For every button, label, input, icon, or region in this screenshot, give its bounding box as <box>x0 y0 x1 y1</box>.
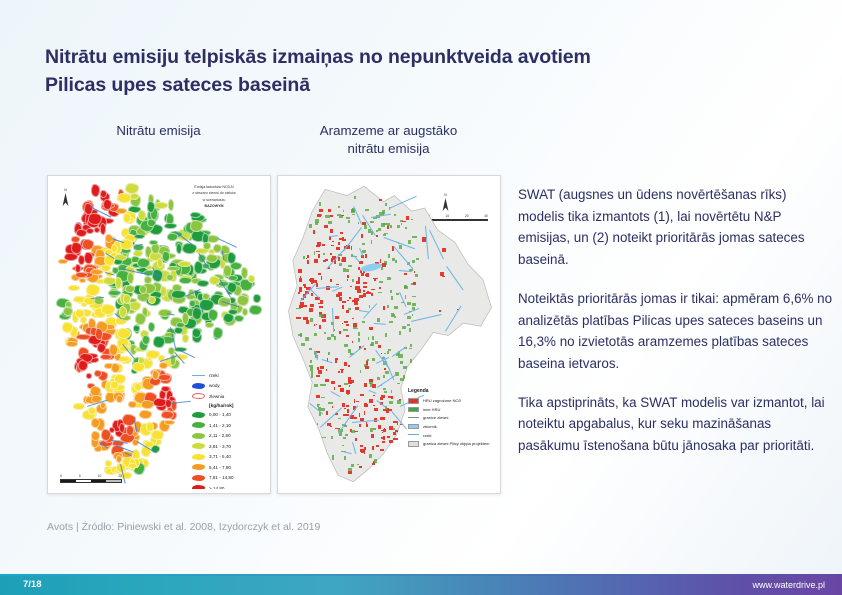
river-segment <box>359 248 363 256</box>
slide: Nitrātu emisiju telpiskās izmaiņas no ne… <box>0 0 842 595</box>
legend-class-label: 5,41 - 7,80 <box>209 465 231 470</box>
river-segment <box>310 288 321 300</box>
river-segment <box>222 251 224 260</box>
river-segment <box>343 451 352 454</box>
scale-tick-1: 5 <box>79 474 81 478</box>
right-map-card[interactable]: N 0 10 20 40 Legenda HRU zagrożone NO3in… <box>277 175 501 494</box>
river-segment <box>167 313 175 315</box>
river-segment <box>383 237 414 249</box>
river-segment <box>122 344 135 360</box>
right-legend-row: zbiornik <box>408 422 496 431</box>
river-segment <box>430 230 445 259</box>
legend-class-row: 0,00 - 1,40 <box>192 410 266 421</box>
legend-class-label: 2,11 - 2,80 <box>209 433 231 438</box>
body-paragraph-2: Noteiktās prioritārās jomas ir tikai: ap… <box>518 288 836 375</box>
river-segment <box>218 238 237 248</box>
legend-class-swatch <box>192 422 205 428</box>
title-line-1: Nitrātu emisiju telpiskās izmaiņas no ne… <box>45 46 591 68</box>
footer-website-link[interactable]: www.waterdrive.pl <box>752 580 825 590</box>
river-segment <box>376 400 387 409</box>
legend-class-label: 0,00 - 1,40 <box>209 412 231 417</box>
legend-row-rivers: rzeki <box>192 370 266 381</box>
right-legend-label: inne HRU <box>423 407 440 412</box>
river-segment <box>320 407 342 427</box>
left-map-canvas: Emisja ładunków NO3-N z obszaru zlewni d… <box>52 180 266 489</box>
legend-row-catchment: zlewnia <box>192 391 266 402</box>
footer-accent-line <box>0 574 842 576</box>
river-segment <box>90 206 112 218</box>
legend-class-row: 3,71 - 5,40 <box>192 452 266 463</box>
right-legend-swatch <box>408 415 419 421</box>
river-segment <box>87 400 108 407</box>
legend-class-row: 1,41 - 2,10 <box>192 420 266 431</box>
right-map-legend-items: HRU zagrożone NO3inne HRUgranice zlewniz… <box>408 397 496 449</box>
title-line-2: Pilicas upes sateces baseinā <box>45 72 745 100</box>
river-segment <box>399 270 412 272</box>
river-segment <box>354 255 361 263</box>
legend-class-list: 0,00 - 1,401,41 - 2,102,11 - 2,802,81 - … <box>192 410 266 490</box>
river-segment <box>134 420 137 432</box>
river-segment <box>134 244 143 247</box>
river-segment <box>99 442 108 448</box>
river-segment <box>329 235 338 237</box>
river-segment <box>91 297 104 299</box>
catchment-outline-icon <box>192 393 205 399</box>
body-text: SWAT (augsnes un ūdens novērtēšanas rīks… <box>518 184 836 457</box>
legend-label-rivers: rzeki <box>209 373 219 378</box>
waters-swatch-icon <box>192 383 205 389</box>
right-legend-label: HRU zagrożone NO3 <box>423 398 461 403</box>
river-segment <box>404 308 419 315</box>
right-legend-swatch <box>408 407 419 413</box>
legend-class-label: 1,41 - 2,10 <box>209 423 231 428</box>
caption-left-map-text: Nitrātu emisija <box>116 123 200 138</box>
river-segment <box>174 352 184 364</box>
river-segment <box>219 279 231 297</box>
river-segment <box>114 313 121 319</box>
legend-class-swatch <box>192 412 205 418</box>
right-map-legend-header: Legenda <box>408 388 496 394</box>
legend-class-row: > 14,80 <box>192 483 266 489</box>
river-segment <box>124 452 131 457</box>
legend-class-swatch <box>192 454 205 460</box>
river-segment <box>331 391 341 397</box>
river-segment <box>445 305 462 331</box>
left-map-legend: rzeki wody zlewnia [kg/ha/rok] 0,00 - 1,… <box>192 370 266 489</box>
page-number: 7/18 <box>23 579 42 590</box>
legend-class-label: 7,81 - 14,80 <box>209 475 234 480</box>
scale-tick-0: 0 <box>60 474 62 478</box>
right-legend-row: HRU zagrożone NO3 <box>408 397 496 406</box>
right-legend-row: granice zlewni <box>408 414 496 423</box>
right-legend-swatch <box>408 432 419 438</box>
left-map-scalebar: 0 5 10 20 <box>60 474 122 483</box>
left-map-card[interactable]: Emisja ładunków NO3-N z obszaru zlewni d… <box>47 175 271 494</box>
legend-class-label: > 14,80 <box>209 486 224 489</box>
river-segment <box>349 345 364 358</box>
right-legend-swatch <box>408 441 419 447</box>
right-legend-swatch <box>408 424 419 430</box>
river-segment <box>112 440 127 444</box>
caption-right-map-line-1: Aramzeme ar augstāko <box>320 123 457 138</box>
legend-class-row: 7,81 - 14,80 <box>192 473 266 484</box>
river-segment <box>185 289 201 297</box>
river-segment <box>332 308 334 332</box>
river-segment <box>359 310 369 313</box>
source-note: Avots | Źródło: Piniewski et al. 2008, I… <box>47 521 320 533</box>
river-segment <box>170 327 176 349</box>
river-segment <box>316 352 318 360</box>
river-segment <box>446 266 463 290</box>
right-legend-row: inne HRU <box>408 405 496 414</box>
river-segment <box>106 253 115 259</box>
river-segment <box>198 253 209 269</box>
river-segment <box>141 272 150 276</box>
river-segment <box>352 442 356 454</box>
caption-right-map-line-2: nitrātu emisija <box>347 141 429 156</box>
river-segment <box>309 403 323 415</box>
caption-right-map: Aramzeme ar augstāko nitrātu emisija <box>277 122 500 158</box>
river-segment <box>221 301 238 307</box>
river-segment <box>392 411 407 429</box>
left-map-scalebar-bar <box>60 479 122 483</box>
slide-footer: 7/18 www.waterdrive.pl <box>0 574 842 595</box>
legend-label-waters: wody <box>209 383 220 388</box>
page-title: Nitrātu emisiju telpiskās izmaiņas no ne… <box>45 44 745 99</box>
legend-unit-label: [kg/ha/rok] <box>209 404 266 409</box>
river-segment <box>353 206 362 224</box>
river-segment <box>383 356 394 380</box>
legend-class-swatch <box>192 485 205 489</box>
legend-class-swatch <box>192 433 205 439</box>
scale-tick-2: 10 <box>98 474 102 478</box>
legend-class-label: 3,71 - 5,40 <box>209 454 231 459</box>
river-segment <box>393 246 413 269</box>
reservoir-polygon <box>359 262 382 273</box>
river-segment <box>362 215 375 235</box>
river-segment <box>160 355 177 362</box>
right-legend-label: granica zlewni Pilicy objęta projektem <box>423 441 489 446</box>
right-legend-label: rzeki <box>423 433 431 438</box>
river-segment <box>374 323 386 325</box>
rivers-line-icon <box>192 373 205 377</box>
right-legend-label: granice zlewni <box>423 415 448 420</box>
river-segment <box>371 214 391 218</box>
legend-class-row: 2,11 - 2,80 <box>192 431 266 442</box>
river-segment <box>411 314 441 322</box>
legend-class-label: 2,81 - 3,70 <box>209 444 231 449</box>
river-segment <box>369 390 377 394</box>
river-segment <box>201 304 203 312</box>
body-paragraph-3: Tika apstiprināts, ka SWAT modelis var i… <box>518 392 836 457</box>
legend-class-row: 5,41 - 7,80 <box>192 462 266 473</box>
legend-row-waters: wody <box>192 381 266 392</box>
river-segment <box>399 292 406 307</box>
body-paragraph-1: SWAT (augsnes un ūdens novērtēšanas rīks… <box>518 184 836 271</box>
right-legend-row: rzeki <box>408 431 496 440</box>
river-segment <box>389 196 416 209</box>
right-legend-label: zbiornik <box>423 424 437 429</box>
river-segment <box>137 441 157 454</box>
river-segment <box>111 238 124 243</box>
river-segment <box>178 349 195 358</box>
river-segment <box>425 226 429 259</box>
legend-class-swatch <box>192 443 205 449</box>
legend-label-catchment: zlewnia <box>209 394 224 399</box>
legend-class-swatch <box>192 475 205 481</box>
river-segment <box>174 231 192 245</box>
right-map-legend: Legenda HRU zagrożone NO3inne HRUgranice… <box>408 388 496 448</box>
legend-class-row: 2,81 - 3,70 <box>192 441 266 452</box>
right-legend-swatch <box>408 398 419 404</box>
left-map-scalebar-labels: 0 5 10 20 <box>60 474 122 478</box>
river-segment <box>392 347 407 358</box>
river-segment <box>170 401 191 404</box>
river-segment <box>105 272 115 275</box>
right-legend-row: granica zlewni Pilicy objęta projektem <box>408 439 496 448</box>
scale-tick-3: 20 <box>118 474 122 478</box>
river-segment <box>352 420 379 423</box>
caption-left-map: Nitrātu emisija <box>47 122 270 140</box>
legend-class-swatch <box>192 464 205 470</box>
right-map-canvas: N 0 10 20 40 Legenda HRU zagrożone NO3in… <box>282 180 496 489</box>
river-segment <box>322 359 333 363</box>
